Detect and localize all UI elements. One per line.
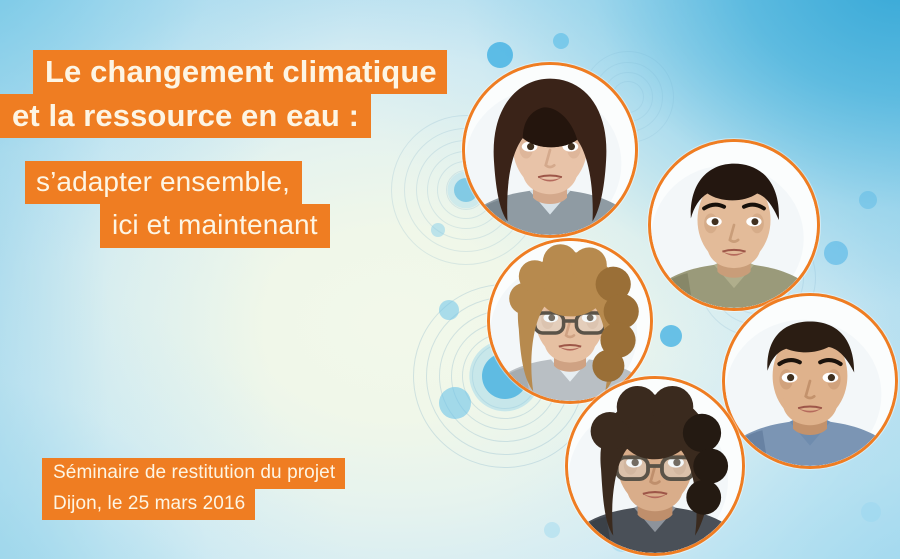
background-dot-4 [439,300,459,320]
background-dot-6 [824,241,848,265]
caption-line-2: Dijon, le 25 mars 2016 [42,489,255,520]
portrait-photo [725,296,895,466]
title-line-2-text: et la ressource en eau : [12,100,359,131]
background-dot-10 [861,502,881,522]
portrait-illustration [725,296,895,466]
background-dot-2 [553,33,569,49]
portrait-bubble-man-blue-shirt [722,293,898,469]
background-dot-3 [660,325,682,347]
portrait-photo [465,65,635,235]
caption-line-1: Séminaire de restitution du projet [42,458,345,489]
title-line-1-text: Le changement climatique [45,56,437,87]
title-line-2: et la ressource en eau : [0,94,371,138]
background-dot-7 [859,191,877,209]
portrait-illustration [568,379,742,553]
background-dot-5 [439,387,471,419]
background-dot-12 [544,522,560,538]
subtitle-line-1-text: s’adapter ensemble, [36,168,290,196]
portrait-photo [568,379,742,553]
subtitle-line-2-text: ici et maintenant [112,211,318,239]
portrait-illustration [490,241,650,401]
portrait-illustration [651,142,817,308]
caption-line-2-text: Dijon, le 25 mars 2016 [53,494,245,513]
title-line-1: Le changement climatique [33,50,447,94]
portrait-illustration [465,65,635,235]
portrait-bubble-person-curly-hair-glasses [565,376,745,556]
portrait-photo [490,241,650,401]
presentation-slide: Le changement climatique et la ressource… [0,0,900,559]
subtitle-line-1: s’adapter ensemble, [25,161,302,204]
caption-line-1-text: Séminaire de restitution du projet [53,463,335,482]
portrait-bubble-woman-dark-hair [462,62,638,238]
background-dot-13 [431,223,445,237]
portrait-photo [651,142,817,308]
subtitle-line-2: ici et maintenant [100,204,330,248]
portrait-bubble-young-man-short-hair [648,139,820,311]
